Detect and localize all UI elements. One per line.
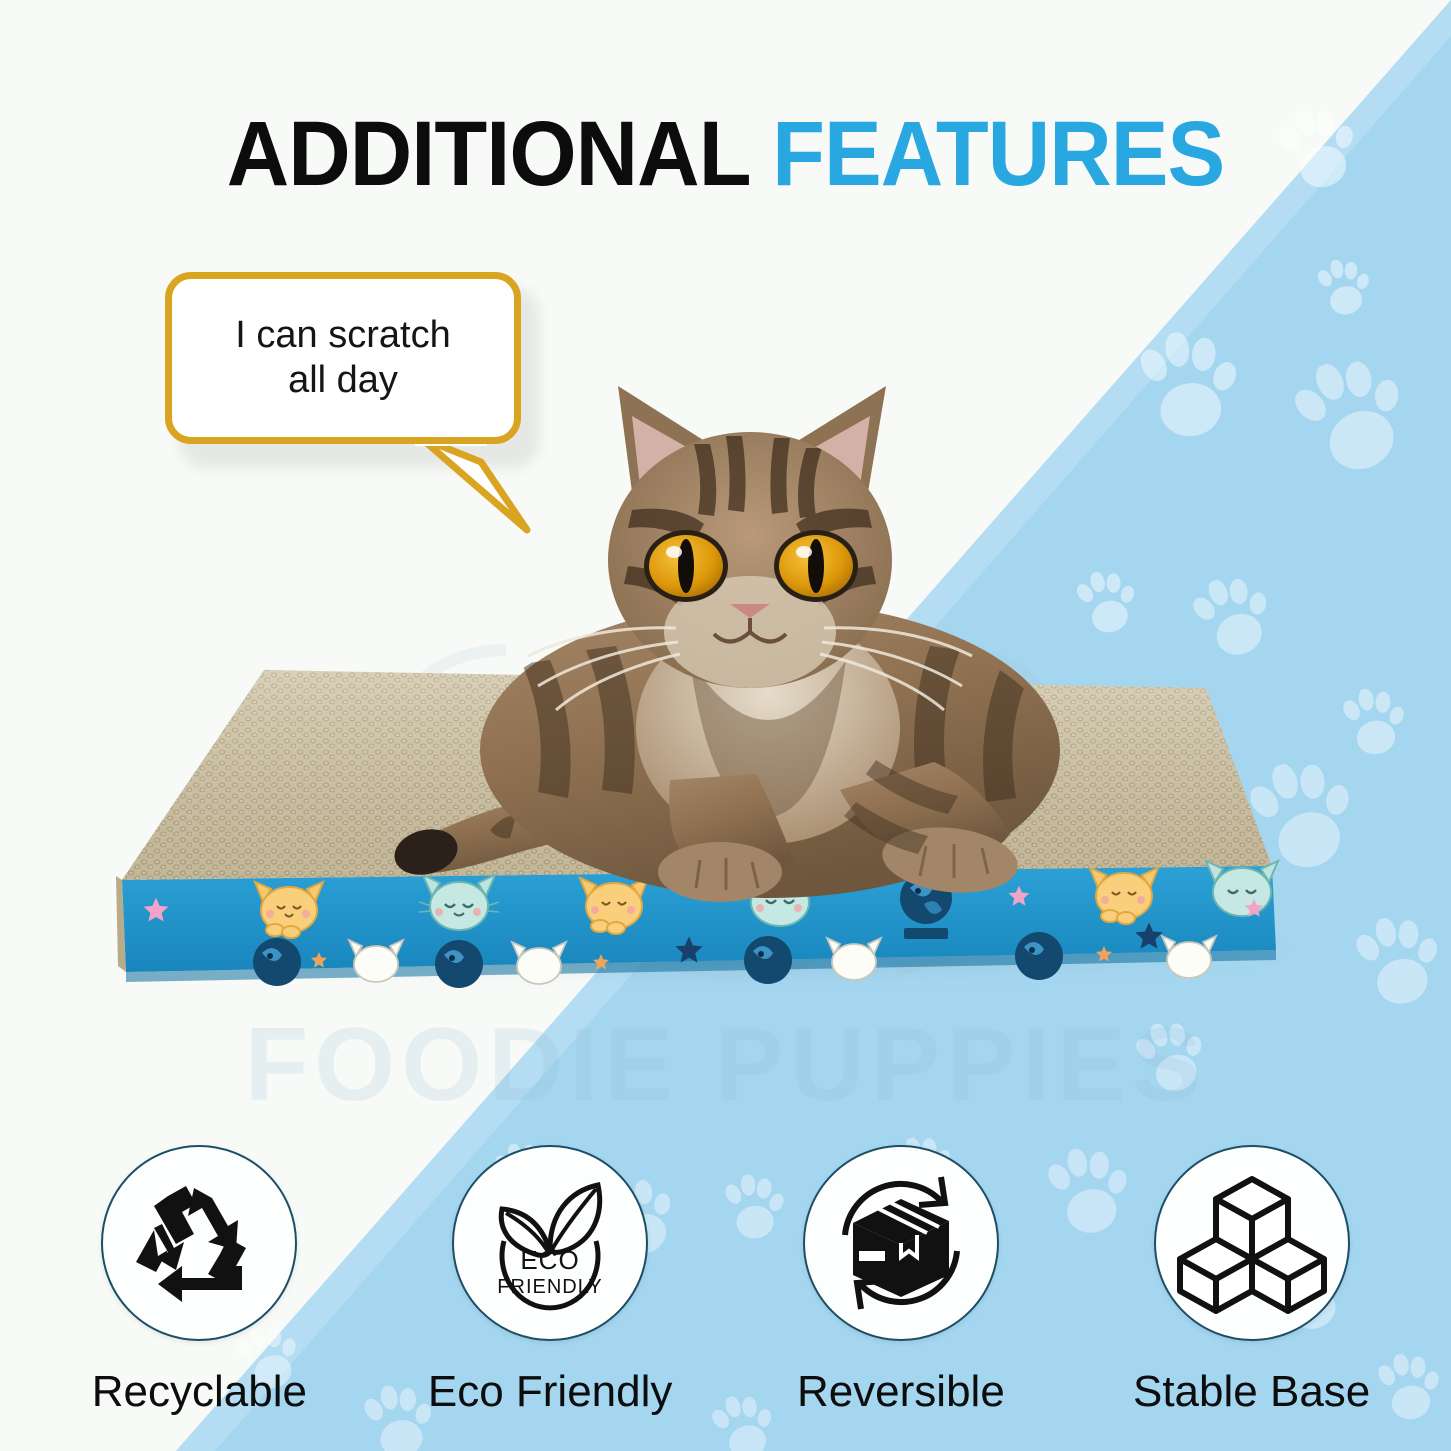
recycle-icon <box>124 1168 274 1318</box>
feature-item-reversible[interactable]: Reversible <box>751 1145 1051 1417</box>
product-photo <box>100 360 1360 1060</box>
box-rotate-icon <box>823 1165 979 1321</box>
stable-base-badge <box>1154 1145 1350 1341</box>
feature-label-recyclable: Recyclable <box>92 1367 307 1417</box>
three-cubes-icon <box>1176 1167 1328 1319</box>
feature-label-reversible: Reversible <box>797 1367 1005 1417</box>
recyclable-badge <box>101 1145 297 1341</box>
cat-eye-right <box>774 530 858 602</box>
eco-friendly-badge: ECO FRIENDLY <box>452 1145 648 1341</box>
feature-item-eco-friendly[interactable]: ECO FRIENDLY Eco Friendly <box>400 1145 700 1417</box>
feature-item-stable-base[interactable]: Stable Base <box>1102 1145 1402 1417</box>
infographic-canvas: FOODIE PUPPIES ADDITIONAL FEATURES I can… <box>0 0 1451 1451</box>
brand-badge-icon <box>253 938 301 986</box>
reversible-badge <box>803 1145 999 1341</box>
title-part-features: FEATURES <box>772 103 1224 205</box>
page-title: ADDITIONAL FEATURES <box>44 108 1408 200</box>
brand-badge-icon <box>1015 932 1063 980</box>
eco-badge-line-2: FRIENDLY <box>497 1276 602 1298</box>
feature-list: Recyclable <box>0 1087 1451 1417</box>
title-part-additional: ADDITIONAL <box>227 103 749 205</box>
feature-label-eco-friendly: Eco Friendly <box>428 1367 673 1417</box>
brand-badge-icon <box>744 936 792 984</box>
speech-bubble-line-1: I can scratch <box>235 313 450 358</box>
eco-leaf-icon: ECO FRIENDLY <box>472 1165 628 1321</box>
cat-eye-left <box>644 530 728 602</box>
eco-badge-line-1: ECO <box>520 1245 579 1275</box>
feature-label-stable-base: Stable Base <box>1133 1367 1370 1417</box>
feature-item-recyclable[interactable]: Recyclable <box>49 1145 349 1417</box>
tabby-cat-photo <box>370 360 1130 920</box>
brand-badge-icon <box>435 940 483 988</box>
